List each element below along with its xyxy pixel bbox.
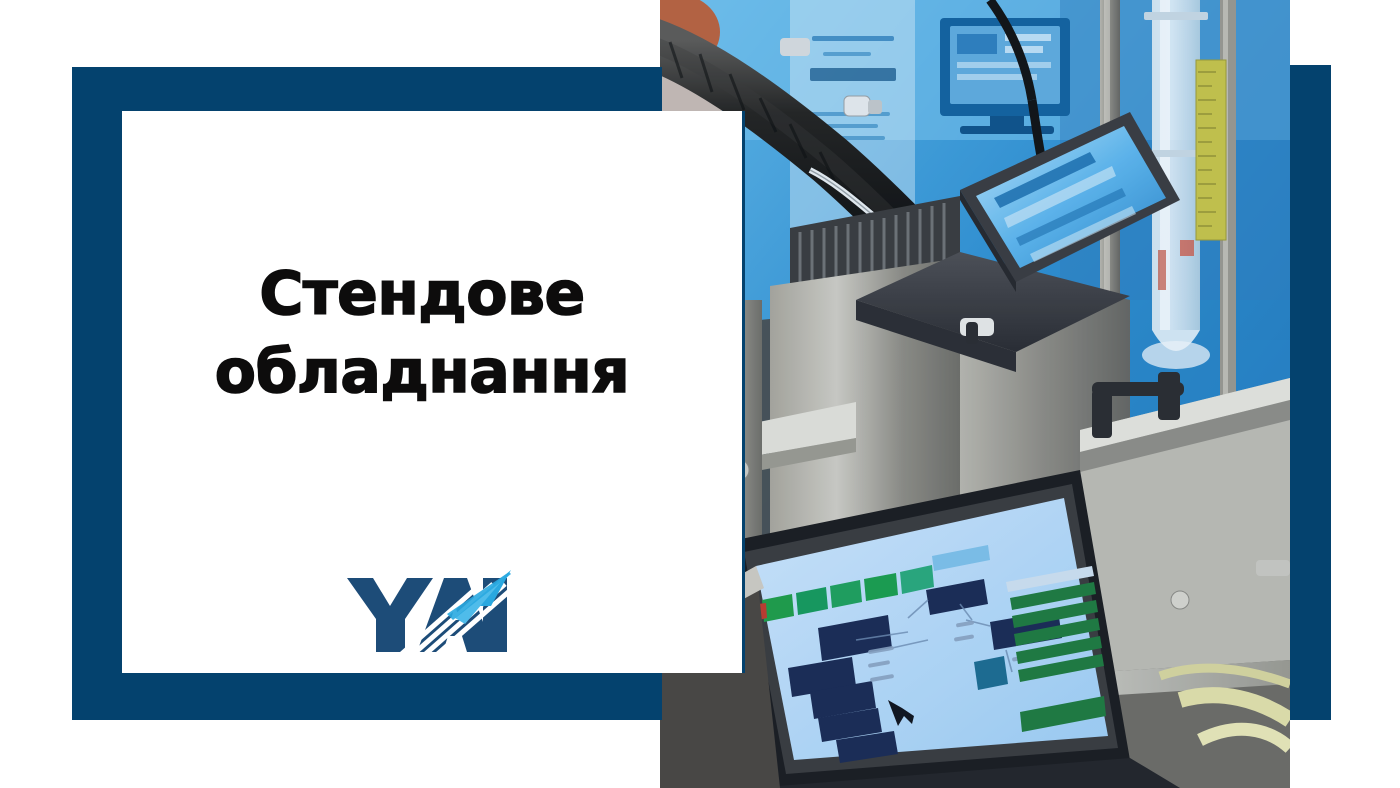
frame-left-bar bbox=[72, 67, 122, 720]
equipment-photo bbox=[660, 0, 1290, 788]
page-title-line-2: обладнання bbox=[122, 333, 722, 411]
khai-logo-icon bbox=[343, 562, 513, 658]
slide-canvas: Стендове обладнання bbox=[0, 0, 1400, 788]
frame-top-bar bbox=[72, 67, 662, 112]
equipment-photo-illustration bbox=[660, 0, 1290, 788]
frame-right-accent-bar bbox=[1290, 65, 1331, 720]
page-title-line-1: Стендове bbox=[122, 255, 722, 333]
khai-logo bbox=[343, 562, 513, 658]
page-title: Стендове обладнання bbox=[122, 255, 722, 411]
frame-bottom-bar bbox=[72, 673, 662, 720]
